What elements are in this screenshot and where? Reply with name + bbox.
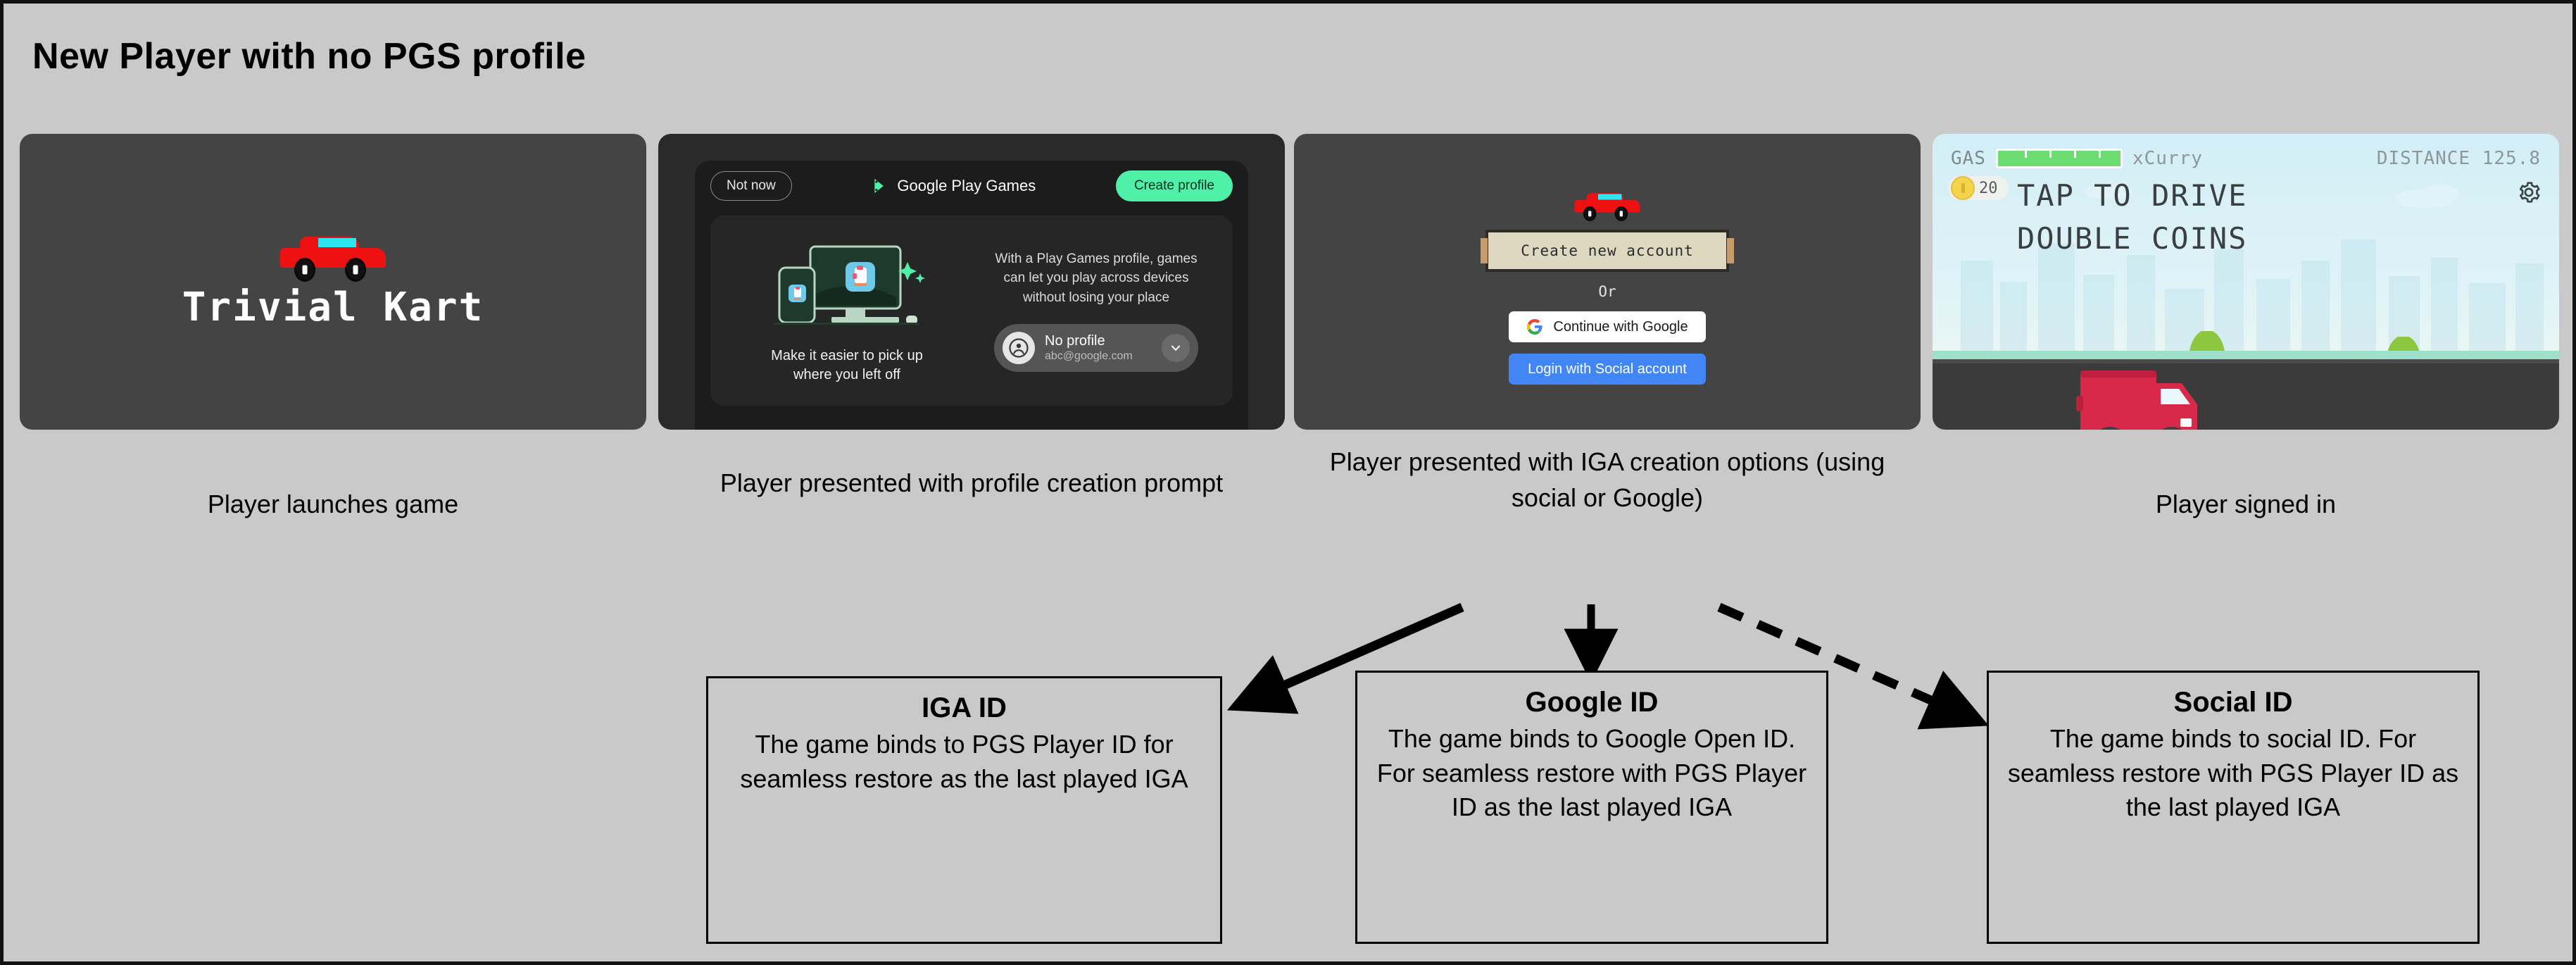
pgs-profile-block: With a Play Games profile, games can let… [978,230,1214,392]
gear-icon[interactable] [2517,180,2541,208]
page-title: New Player with no PGS profile [32,35,586,77]
pgs-illustration-block: Make it easier to pick up where you left… [729,230,965,392]
chevron-down-glyph [1169,341,1183,355]
chevron-down-icon[interactable] [1162,334,1190,362]
devices-illustration-icon [755,237,938,335]
iga-content: Create new account Or Continue with Goog… [1294,134,1921,430]
pgs-dialog: Not now Google Play Games Create profile [695,161,1248,430]
continue-with-google-button[interactable]: Continue with Google [1509,311,1706,342]
coin-count: 20 [1979,180,1998,197]
illustration-caption: Make it easier to pick up where you left… [759,347,935,385]
gas-meter-fill [1998,151,2121,166]
not-now-button[interactable]: Not now [710,171,792,201]
headline-line-2: DOUBLE COINS [2017,218,2247,261]
game-headline: TAP TO DRIVE DOUBLE COINS [2017,175,2247,261]
profile-text: No profile abc@google.com [1045,333,1152,363]
caption-panel-4: Player signed in [1947,486,2545,522]
outcome-heading: IGA ID [727,691,1202,725]
pgs-brand: Google Play Games [802,177,1106,195]
gas-label: GAS [1951,148,1986,169]
pgs-dialog-header: Not now Google Play Games Create profile [695,161,1248,211]
profile-name: No profile [1045,333,1105,349]
avatar-icon [1003,332,1035,364]
outcome-heading: Google ID [1376,685,1808,719]
profile-selector-row[interactable]: No profile abc@google.com [994,324,1198,372]
continue-with-google-label: Continue with Google [1553,319,1688,335]
pgs-description: With a Play Games profile, games can let… [994,249,1198,308]
panel-iga-creation-options: Create new account Or Continue with Goog… [1294,134,1921,430]
road [1933,359,2559,430]
gas-meter [1996,149,2123,168]
gear-glyph [2517,180,2541,204]
headline-line-1: TAP TO DRIVE [2017,175,2247,218]
pgs-dialog-body: Make it easier to pick up where you left… [710,216,1233,406]
player-name: xCurry [2132,148,2203,169]
panel-splash-screen: Trivial Kart [20,134,646,430]
outcome-body: The game binds to social ID. For seamles… [2007,722,2459,825]
distance-readout: DISTANCE 125.8 [2377,148,2541,169]
pgs-brand-label: Google Play Games [897,177,1036,195]
caption-panel-2: Player presented with profile creation p… [672,465,1271,501]
game-title: Trivial Kart [182,285,484,330]
delivery-truck-icon [2073,365,2211,430]
coin-icon [1951,176,1975,200]
game-viewport: GAS xCurry DISTANCE 125.8 [1933,134,2559,430]
hud-right: DISTANCE 125.8 [2377,148,2541,208]
create-profile-button[interactable]: Create profile [1116,170,1233,201]
account-circle-icon [1008,337,1029,359]
outcome-body: The game binds to Google Open ID. For se… [1376,722,1808,825]
hud-left: GAS xCurry [1951,148,2203,169]
coin-counter: 20 [1948,176,2009,200]
profile-email: abc@google.com [1045,350,1133,362]
google-g-icon [1526,318,1543,335]
caption-panel-3: Player presented with IGA creation optio… [1308,444,1906,516]
splash-content: Trivial Kart [20,134,646,430]
panel-pgs-profile-prompt: Not now Google Play Games Create profile [658,134,1285,430]
panel-gameplay-signed-in: GAS xCurry DISTANCE 125.8 [1933,134,2559,430]
outcome-box-iga-id: IGA ID The game binds to PGS Player ID f… [706,676,1222,944]
outcome-box-google-id: Google ID The game binds to Google Open … [1355,671,1828,944]
caption-panel-1: Player launches game [34,486,632,522]
or-divider-label: Or [1598,283,1616,300]
pixel-car-icon [280,234,386,278]
outcome-body: The game binds to PGS Player ID for seam… [727,728,1202,796]
outcome-box-social-id: Social ID The game binds to social ID. F… [1987,671,2480,944]
google-play-games-icon [872,177,890,195]
login-with-social-button[interactable]: Login with Social account [1509,354,1706,385]
horizon-band [1933,351,2559,359]
outcome-heading: Social ID [2007,685,2459,719]
pixel-car-icon [1575,192,1640,218]
create-new-account-button[interactable]: Create new account [1485,230,1729,272]
